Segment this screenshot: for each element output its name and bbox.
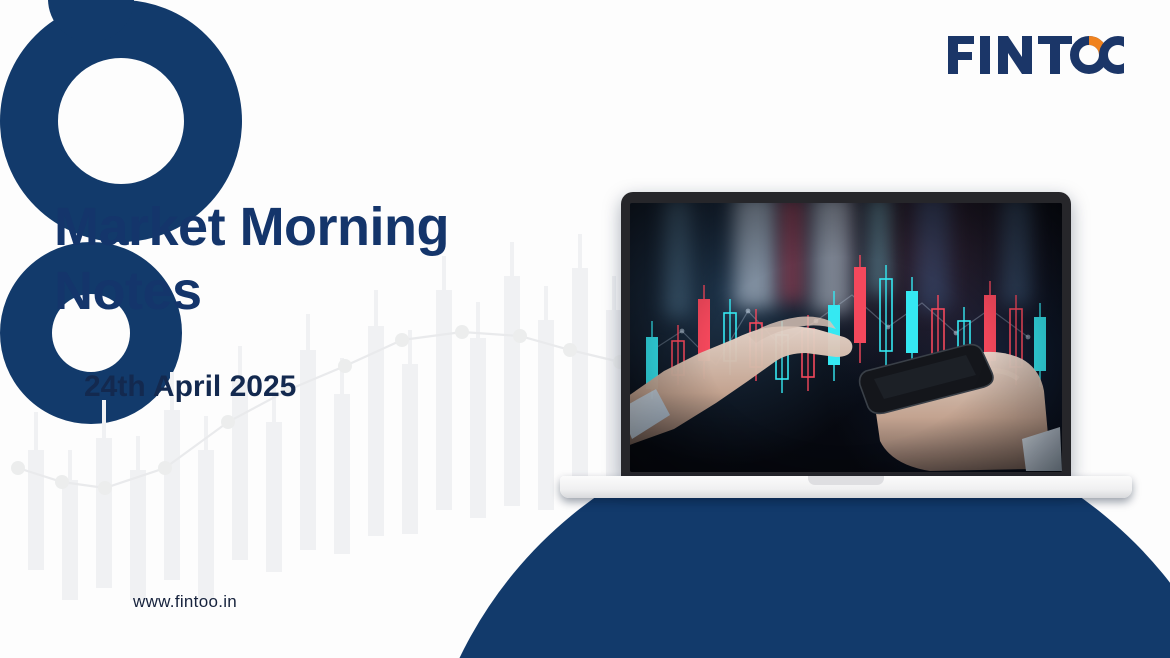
page-title: Market Morning Notes: [54, 196, 574, 323]
fintoo-logo-icon: [946, 30, 1124, 80]
website-url[interactable]: www.fintoo.in: [133, 592, 237, 612]
screen-artwork: [630, 203, 1062, 472]
laptop-screen: [630, 203, 1062, 472]
issue-date: 24th April 2025: [84, 370, 296, 404]
fintoo-logo[interactable]: [946, 30, 1124, 80]
laptop-trackpad-notch: [808, 476, 884, 485]
laptop-base: [560, 476, 1132, 498]
hands-with-smartphone-photo: [630, 203, 1062, 472]
laptop-device: [560, 176, 1132, 506]
logo-o-second: [1104, 41, 1125, 70]
poster-canvas: Market Morning Notes 24th April 2025 www…: [0, 0, 1170, 658]
left-hand: [630, 317, 852, 448]
laptop-lid: [621, 192, 1071, 480]
